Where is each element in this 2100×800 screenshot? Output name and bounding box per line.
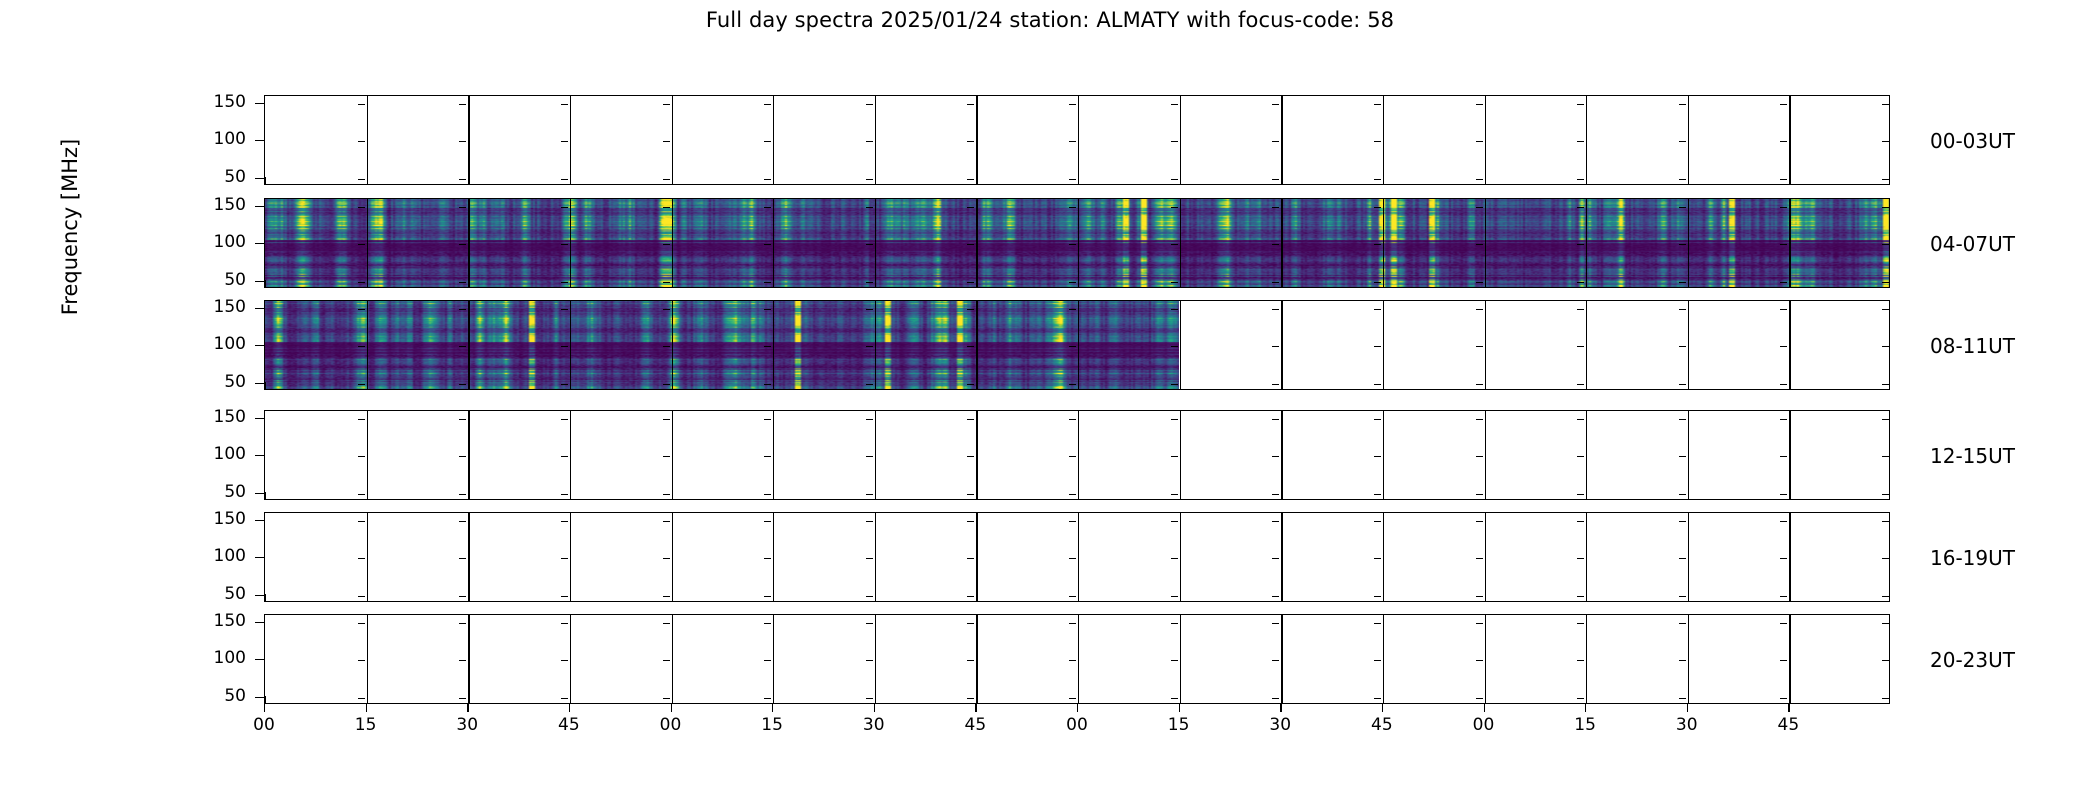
y-tick-inner [967, 521, 974, 522]
x-tick-inner [265, 696, 266, 703]
x-tick [1788, 704, 1789, 712]
y-tick-inner [1069, 698, 1076, 699]
y-tick-inner [1780, 558, 1787, 559]
y-tick-inner [358, 309, 365, 310]
y-tick-inner [358, 141, 365, 142]
y-tick-inner [1780, 660, 1787, 661]
x-tick-inner [1078, 177, 1079, 184]
x-tick-inner [1180, 177, 1181, 184]
x-tick-inner [773, 280, 774, 287]
y-tick [255, 493, 264, 494]
y-tick-inner [1679, 623, 1686, 624]
y-tick-inner [1577, 384, 1584, 385]
subplot-row-12-15ut: 15010050 [264, 410, 1890, 500]
y-tick-inner [1780, 698, 1787, 699]
y-tick-inner [866, 623, 873, 624]
y-tick-inner [1272, 698, 1279, 699]
y-tick-inner [1374, 207, 1381, 208]
plot-area [264, 198, 1890, 288]
y-tick-inner [866, 596, 873, 597]
y-tick-inner [459, 104, 466, 105]
y-tick-inner [1679, 282, 1686, 283]
panel-separator [1688, 615, 1689, 703]
y-tick-inner [1272, 207, 1279, 208]
y-tick-inner [764, 494, 771, 495]
x-tick-inner [773, 594, 774, 601]
y-tick-inner [1374, 558, 1381, 559]
y-tick-inner [1780, 419, 1787, 420]
panel-separator [367, 615, 368, 703]
x-tick-inner [1789, 177, 1790, 184]
panel-separator [773, 411, 774, 499]
y-tick-inner [1780, 141, 1787, 142]
x-tick-inner [570, 382, 571, 389]
x-tick-label: 45 [1768, 715, 1808, 735]
y-tick-inner [1476, 282, 1483, 283]
x-tick-inner [875, 594, 876, 601]
row-label-04-07ut: 04-07UT [1930, 232, 2015, 256]
y-tick [255, 206, 264, 207]
row-label-16-19ut: 16-19UT [1930, 546, 2015, 570]
y-tick-inner [663, 179, 670, 180]
y-tick-inner [561, 596, 568, 597]
y-tick-inner [866, 346, 873, 347]
y-tick-inner [1069, 660, 1076, 661]
x-tick-inner [468, 696, 469, 703]
y-tick-inner [1272, 558, 1279, 559]
y-tick-inner [1374, 104, 1381, 105]
y-tick-inner [1171, 558, 1178, 559]
y-tick-inner [1374, 623, 1381, 624]
x-tick-inner [1586, 492, 1587, 499]
panel-separator [1485, 199, 1486, 287]
y-tick-inner [459, 521, 466, 522]
y-tick-inner [1780, 456, 1787, 457]
y-tick [255, 281, 264, 282]
panel-separator [1586, 199, 1587, 287]
y-tick-inner [1882, 309, 1889, 310]
y-tick-inner [764, 698, 771, 699]
y-tick-inner [1780, 521, 1787, 522]
y-tick-inner [1272, 141, 1279, 142]
y-tick-inner [1272, 346, 1279, 347]
x-tick-inner [1485, 696, 1486, 703]
y-tick-inner [1882, 698, 1889, 699]
spectrogram-image [265, 301, 1179, 389]
x-tick-inner [570, 696, 571, 703]
y-tick-inner [358, 104, 365, 105]
panel-separator [1383, 301, 1384, 389]
x-tick-inner [367, 177, 368, 184]
y-tick-inner [561, 104, 568, 105]
x-tick-inner [773, 177, 774, 184]
x-tick-inner [773, 696, 774, 703]
y-tick-inner [459, 698, 466, 699]
y-tick [255, 345, 264, 346]
panel-separator [1180, 411, 1181, 499]
y-tick-inner [967, 494, 974, 495]
y-tick-label: 50 [200, 688, 246, 705]
y-tick-inner [1679, 244, 1686, 245]
y-axis-label: Frequency [MHz] [58, 47, 82, 407]
y-tick-inner [1476, 141, 1483, 142]
panel-separator [468, 615, 469, 703]
y-tick-inner [1374, 384, 1381, 385]
y-tick-inner [1171, 346, 1178, 347]
panel-separator [1789, 411, 1790, 499]
y-tick-inner [1171, 384, 1178, 385]
x-tick-inner [1078, 594, 1079, 601]
y-tick-inner [1577, 558, 1584, 559]
y-tick-inner [1272, 384, 1279, 385]
y-tick-inner [866, 309, 873, 310]
panel-separator [773, 96, 774, 184]
panel-separator [875, 513, 876, 601]
y-tick-inner [866, 244, 873, 245]
y-tick-inner [1679, 346, 1686, 347]
x-tick [569, 704, 570, 712]
panel-separator [367, 411, 368, 499]
y-tick-label: 150 [200, 511, 246, 528]
y-tick [255, 243, 264, 244]
x-tick-inner [265, 382, 266, 389]
panel-separator [875, 411, 876, 499]
y-tick-inner [1882, 244, 1889, 245]
y-tick-inner [358, 558, 365, 559]
y-tick-inner [1272, 494, 1279, 495]
x-tick-inner [1688, 177, 1689, 184]
x-tick-inner [1789, 696, 1790, 703]
y-tick-inner [1374, 179, 1381, 180]
y-tick-label: 150 [200, 197, 246, 214]
x-tick [1179, 704, 1180, 712]
x-tick [1077, 704, 1078, 712]
y-tick-inner [866, 698, 873, 699]
y-tick-inner [1679, 698, 1686, 699]
y-tick-inner [1374, 282, 1381, 283]
x-tick-inner [1180, 492, 1181, 499]
panel-separator [672, 615, 673, 703]
x-tick-inner [367, 594, 368, 601]
x-tick [1687, 704, 1688, 712]
y-tick-inner [561, 419, 568, 420]
panel-separator [1180, 513, 1181, 601]
x-tick-label: 00 [651, 715, 691, 735]
y-tick-inner [1679, 104, 1686, 105]
panel-separator [1078, 199, 1079, 287]
panel-separator [1180, 615, 1181, 703]
x-tick-inner [1180, 382, 1181, 389]
y-tick-inner [459, 558, 466, 559]
x-tick-inner [875, 280, 876, 287]
x-tick-inner [976, 280, 977, 287]
panel-separator [570, 199, 571, 287]
panel-separator [672, 513, 673, 601]
y-tick-inner [1577, 660, 1584, 661]
y-tick-label: 100 [200, 131, 246, 148]
y-tick-inner [1374, 309, 1381, 310]
y-tick-inner [663, 456, 670, 457]
y-tick-inner [1476, 309, 1483, 310]
y-tick-inner [459, 346, 466, 347]
x-tick-inner [672, 280, 673, 287]
y-tick-inner [1069, 494, 1076, 495]
panel-separator [1383, 513, 1384, 601]
row-label-08-11ut: 08-11UT [1930, 334, 2015, 358]
panel-separator [875, 615, 876, 703]
row-label-00-03ut: 00-03UT [1930, 129, 2015, 153]
y-tick-inner [1272, 282, 1279, 283]
panel-separator [1586, 615, 1587, 703]
panel-separator [773, 513, 774, 601]
y-tick-inner [1171, 282, 1178, 283]
y-tick-inner [866, 384, 873, 385]
y-tick-inner [1272, 596, 1279, 597]
y-tick-inner [1171, 419, 1178, 420]
y-tick-label: 150 [200, 409, 246, 426]
y-tick-inner [1476, 456, 1483, 457]
panel-separator [1586, 301, 1587, 389]
y-tick-inner [1069, 346, 1076, 347]
y-tick-inner [1577, 244, 1584, 245]
x-tick [874, 704, 875, 712]
y-tick-inner [561, 558, 568, 559]
plot-area [264, 512, 1890, 602]
y-tick-inner [459, 419, 466, 420]
panel-separator [773, 199, 774, 287]
x-tick-inner [976, 696, 977, 703]
panel-separator [468, 411, 469, 499]
x-tick-inner [1281, 492, 1282, 499]
x-tick-inner [1078, 280, 1079, 287]
x-tick-inner [265, 280, 266, 287]
y-tick-inner [764, 660, 771, 661]
x-tick-inner [1078, 492, 1079, 499]
y-tick-inner [459, 309, 466, 310]
y-tick-inner [1679, 141, 1686, 142]
x-tick-inner [570, 280, 571, 287]
x-tick-inner [1281, 177, 1282, 184]
panel-separator [468, 513, 469, 601]
x-tick [467, 704, 468, 712]
x-tick-inner [265, 492, 266, 499]
y-tick-inner [764, 179, 771, 180]
panel-separator [672, 199, 673, 287]
x-tick-inner [1789, 492, 1790, 499]
x-tick-inner [976, 177, 977, 184]
y-tick-inner [459, 596, 466, 597]
x-tick-inner [672, 382, 673, 389]
y-tick-inner [764, 282, 771, 283]
panel-separator [875, 301, 876, 389]
x-tick-inner [1789, 382, 1790, 389]
x-tick-inner [468, 594, 469, 601]
y-tick-inner [764, 456, 771, 457]
y-tick-inner [561, 521, 568, 522]
panel-separator [570, 513, 571, 601]
y-tick-inner [358, 346, 365, 347]
x-tick-inner [1383, 594, 1384, 601]
x-tick-inner [1485, 382, 1486, 389]
x-tick-label: 30 [447, 715, 487, 735]
plot-area [264, 300, 1890, 390]
panel-separator [468, 96, 469, 184]
y-tick-inner [1272, 623, 1279, 624]
y-tick-inner [1069, 244, 1076, 245]
y-tick-inner [561, 282, 568, 283]
plot-area [264, 614, 1890, 704]
x-tick-inner [265, 177, 266, 184]
x-tick-label: 00 [1464, 715, 1504, 735]
y-tick-inner [1577, 521, 1584, 522]
y-tick-inner [866, 494, 873, 495]
panel-separator [1586, 411, 1587, 499]
y-tick-label: 100 [200, 446, 246, 463]
y-tick-inner [1882, 521, 1889, 522]
x-tick-inner [468, 382, 469, 389]
y-tick-inner [358, 660, 365, 661]
y-tick-inner [1171, 309, 1178, 310]
x-tick-inner [1789, 594, 1790, 601]
x-tick-label: 30 [1667, 715, 1707, 735]
y-tick-inner [358, 179, 365, 180]
y-tick-inner [866, 207, 873, 208]
y-tick-inner [1882, 456, 1889, 457]
page-title: Full day spectra 2025/01/24 station: ALM… [0, 8, 2100, 32]
panel-separator [976, 301, 977, 389]
panel-separator [1383, 199, 1384, 287]
y-tick-inner [1679, 384, 1686, 385]
y-tick-inner [663, 419, 670, 420]
x-tick [1382, 704, 1383, 712]
y-tick-inner [866, 104, 873, 105]
x-tick [366, 704, 367, 712]
y-tick-inner [1780, 282, 1787, 283]
y-tick-inner [1069, 104, 1076, 105]
y-tick-inner [358, 623, 365, 624]
panel-separator [1078, 411, 1079, 499]
y-tick-inner [1374, 494, 1381, 495]
y-tick-inner [1882, 384, 1889, 385]
y-tick-inner [459, 660, 466, 661]
y-tick-inner [358, 244, 365, 245]
y-tick-inner [561, 244, 568, 245]
y-tick-inner [1476, 698, 1483, 699]
x-tick-inner [1383, 382, 1384, 389]
y-tick-inner [866, 419, 873, 420]
y-tick-inner [1171, 141, 1178, 142]
y-tick-inner [1679, 558, 1686, 559]
y-tick-label: 100 [200, 234, 246, 251]
y-tick-inner [1780, 623, 1787, 624]
x-tick-inner [1586, 382, 1587, 389]
x-tick-label: 45 [955, 715, 995, 735]
panel-separator [1789, 513, 1790, 601]
y-tick-inner [358, 494, 365, 495]
panel-separator [1789, 199, 1790, 287]
y-tick-inner [1374, 346, 1381, 347]
y-tick-inner [358, 596, 365, 597]
x-tick-inner [1688, 280, 1689, 287]
y-tick-inner [1476, 596, 1483, 597]
y-tick-inner [1069, 623, 1076, 624]
y-tick-inner [1374, 698, 1381, 699]
y-tick-inner [1069, 384, 1076, 385]
y-tick-inner [967, 141, 974, 142]
x-tick-inner [672, 696, 673, 703]
y-tick-inner [1476, 558, 1483, 559]
subplot-row-08-11ut: 15010050 [264, 300, 1890, 390]
y-tick-inner [1577, 698, 1584, 699]
x-tick-inner [1485, 280, 1486, 287]
y-tick-inner [1069, 309, 1076, 310]
y-tick-inner [1780, 179, 1787, 180]
y-tick [255, 308, 264, 309]
panel-separator [367, 199, 368, 287]
panel-separator [570, 96, 571, 184]
y-tick-inner [358, 207, 365, 208]
y-tick-inner [1476, 384, 1483, 385]
panel-separator [1485, 615, 1486, 703]
panel-separator [1180, 301, 1181, 389]
y-tick-inner [1171, 660, 1178, 661]
y-tick-inner [358, 282, 365, 283]
panel-separator [976, 199, 977, 287]
x-tick-label: 00 [244, 715, 284, 735]
y-tick-inner [663, 282, 670, 283]
y-tick-label: 50 [200, 484, 246, 501]
y-tick-inner [459, 456, 466, 457]
y-tick-inner [459, 244, 466, 245]
panel-separator [1281, 513, 1282, 601]
y-tick-inner [1374, 456, 1381, 457]
x-tick-inner [367, 280, 368, 287]
y-tick-inner [1577, 456, 1584, 457]
panel-separator [773, 301, 774, 389]
y-tick-inner [1069, 282, 1076, 283]
y-tick-inner [1476, 179, 1483, 180]
panel-separator [976, 513, 977, 601]
y-tick-inner [967, 456, 974, 457]
y-tick-inner [1171, 698, 1178, 699]
y-tick-inner [1679, 596, 1686, 597]
subplot-row-16-19ut: 15010050 [264, 512, 1890, 602]
panel-separator [1586, 513, 1587, 601]
y-tick-inner [1272, 456, 1279, 457]
y-tick-label: 50 [200, 586, 246, 603]
row-label-20-23ut: 20-23UT [1930, 648, 2015, 672]
y-tick-inner [967, 244, 974, 245]
x-tick-inner [1485, 492, 1486, 499]
panel-separator [468, 301, 469, 389]
y-tick-inner [1069, 456, 1076, 457]
subplot-row-00-03ut: 15010050 [264, 95, 1890, 185]
x-tick-inner [976, 492, 977, 499]
y-tick-inner [1577, 419, 1584, 420]
panel-separator [1383, 96, 1384, 184]
y-tick-label: 100 [200, 650, 246, 667]
x-tick [975, 704, 976, 712]
panel-separator [570, 411, 571, 499]
y-tick-inner [561, 660, 568, 661]
x-tick-inner [1586, 594, 1587, 601]
subplot-row-04-07ut: 15010050 [264, 198, 1890, 288]
y-tick-inner [1272, 419, 1279, 420]
y-tick-inner [663, 244, 670, 245]
y-tick-inner [1069, 179, 1076, 180]
panel-separator [773, 615, 774, 703]
x-tick [1484, 704, 1485, 712]
